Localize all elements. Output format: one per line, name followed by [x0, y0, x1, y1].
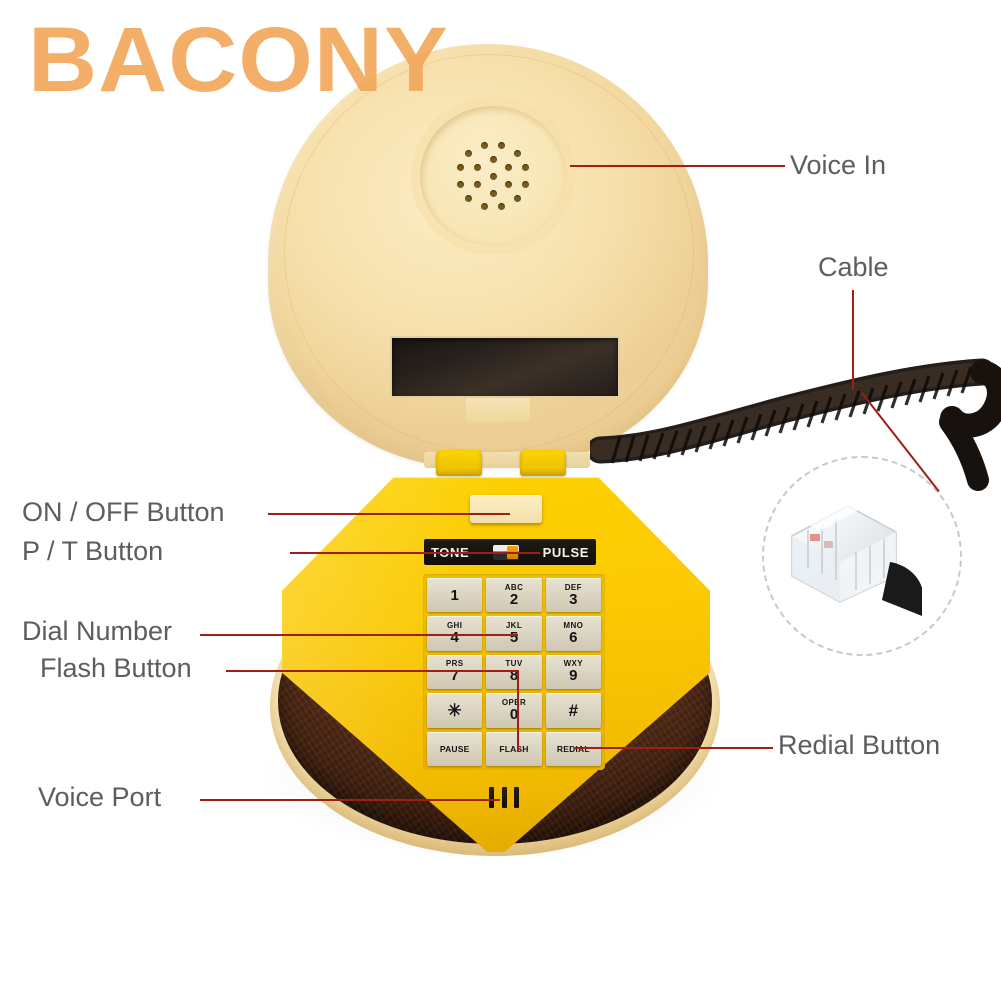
speaker-hole — [490, 190, 497, 197]
key-[interactable]: ✳ — [427, 693, 482, 727]
hinge-knuckle-right — [520, 450, 566, 476]
speaker-hole — [465, 150, 472, 157]
pulse-label: PULSE — [543, 545, 589, 560]
key-2[interactable]: ABC2 — [486, 578, 541, 612]
on-off-button[interactable] — [470, 495, 542, 523]
brand-watermark: BACONY — [28, 14, 449, 106]
voice-port-slot — [502, 787, 507, 808]
key-0[interactable]: OPER0 — [486, 693, 541, 727]
leader-redial — [575, 747, 773, 749]
speaker-hole — [498, 142, 505, 149]
speaker-hole — [522, 164, 529, 171]
speaker-hole — [457, 181, 464, 188]
key-#[interactable]: # — [546, 693, 601, 727]
leader-flash-b — [517, 670, 519, 752]
key-label: PAUSE — [440, 745, 470, 754]
key-label: 9 — [569, 668, 577, 683]
dial-keypad[interactable]: 1ABC2DEF3GHI4JKL5MNO6PRS7TUV8WXY9✳OPER0#… — [423, 574, 605, 770]
key-label: # — [569, 702, 578, 719]
key-label: 4 — [450, 630, 458, 645]
leader-on-off — [268, 513, 510, 515]
leader-cable — [852, 290, 854, 390]
rj11-connector-icon — [778, 492, 922, 616]
speaker-hole — [481, 203, 488, 210]
speaker-hole — [481, 142, 488, 149]
voice-port-slots — [489, 787, 519, 808]
speaker-hole — [490, 156, 497, 163]
leader-voice-in — [570, 165, 785, 167]
product-image-canvas: TONE PULSE 1ABC2DEF3GHI4JKL5MNO6PRS7TUV8… — [0, 0, 1001, 1001]
key-3[interactable]: DEF3 — [546, 578, 601, 612]
key-label: 6 — [569, 630, 577, 645]
lid-dark-strip — [390, 336, 620, 398]
voice-port-slot — [514, 787, 519, 808]
key-label: 2 — [510, 592, 518, 607]
key-flash[interactable]: FLASH — [486, 732, 541, 766]
callout-label-flash: Flash Button — [40, 653, 192, 684]
speaker-hole — [505, 181, 512, 188]
callout-label-voice-in: Voice In — [790, 150, 886, 181]
leader-flash-a — [226, 670, 518, 672]
key-1[interactable]: 1 — [427, 578, 482, 612]
leader-dial-number — [200, 634, 518, 636]
leader-voice-port — [200, 799, 500, 801]
callout-label-cable: Cable — [818, 252, 889, 283]
speaker-hole — [474, 164, 481, 171]
key-label: 3 — [569, 592, 577, 607]
speaker-hole — [490, 173, 497, 180]
callout-label-p-t: P / T Button — [22, 536, 163, 567]
speaker-hole — [514, 150, 521, 157]
leader-p-t — [290, 552, 540, 554]
speaker-hole — [465, 195, 472, 202]
key-label: ✳ — [448, 702, 462, 719]
key-pause[interactable]: PAUSE — [427, 732, 482, 766]
speaker-hole — [522, 181, 529, 188]
speaker-hole — [498, 203, 505, 210]
callout-label-voice-port: Voice Port — [38, 782, 161, 813]
earpiece-recess — [420, 106, 566, 246]
speaker-hole — [514, 195, 521, 202]
key-label: 1 — [450, 588, 458, 603]
callout-label-on-off: ON / OFF Button — [22, 497, 225, 528]
speaker-hole — [457, 164, 464, 171]
key-6[interactable]: MNO6 — [546, 616, 601, 650]
speaker-hole — [505, 164, 512, 171]
voice-port-slot — [489, 787, 494, 808]
lid-latch-tab — [466, 398, 530, 422]
callout-label-redial: Redial Button — [778, 730, 940, 761]
key-9[interactable]: WXY9 — [546, 655, 601, 689]
callout-label-dial: Dial Number — [22, 616, 172, 647]
key-label: 5 — [510, 630, 518, 645]
key-label: FLASH — [499, 745, 528, 754]
hinge-knuckle-left — [436, 450, 482, 476]
speaker-hole — [474, 181, 481, 188]
